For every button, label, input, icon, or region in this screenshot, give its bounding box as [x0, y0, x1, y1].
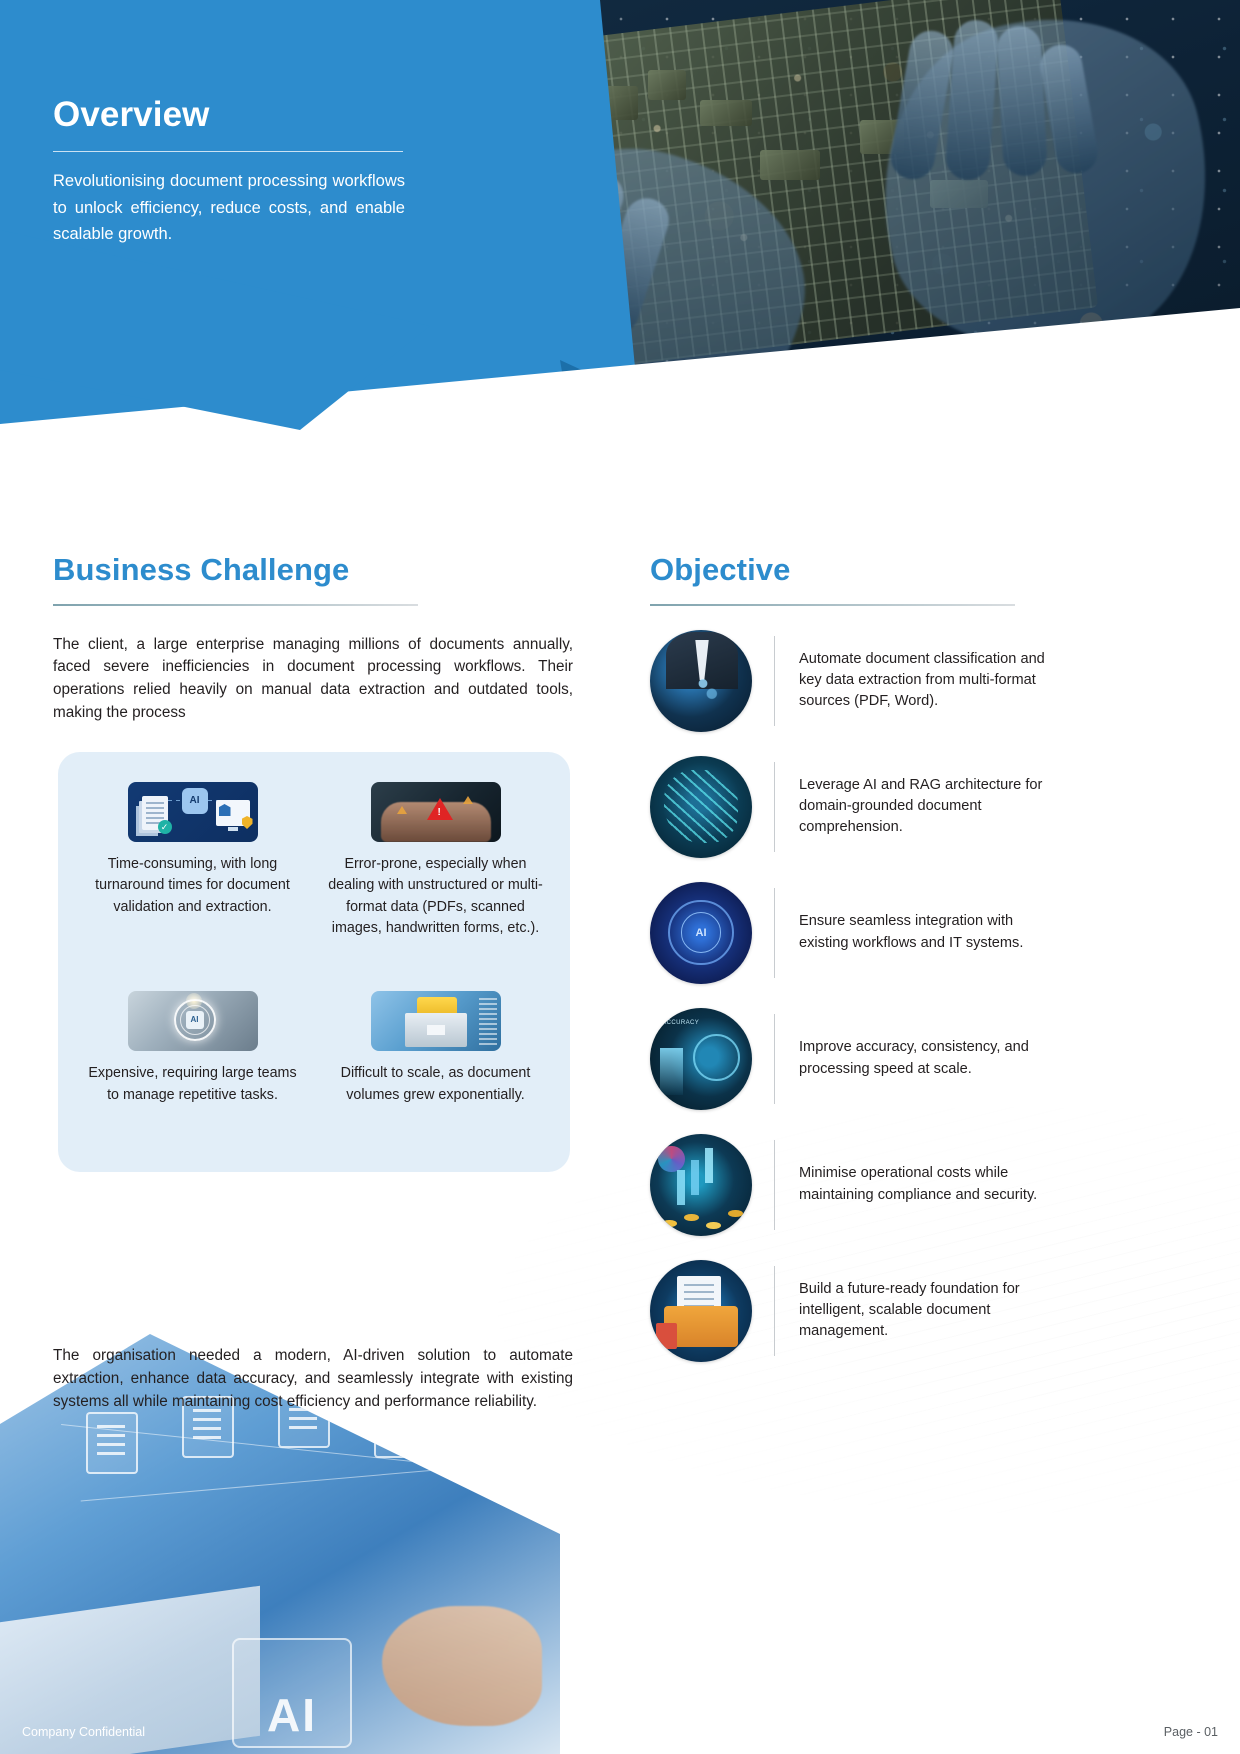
- objective-item-text: Minimise operational costs while maintai…: [799, 1163, 1045, 1205]
- ai-chip-hologram-photo: AI: [128, 991, 258, 1051]
- objective-item-text: Build a future-ready foundation for inte…: [799, 1279, 1045, 1342]
- challenge-card: AI Expensive, requiring large teams to m…: [74, 991, 311, 1150]
- challenge-card: Error-prone, especially when dealing wit…: [317, 782, 554, 983]
- business-challenge-card-box: ✓ AI Time-consuming, with long turnaroun…: [58, 752, 570, 1172]
- objective-item: AI Ensure seamless integration with exis…: [650, 882, 1045, 984]
- ai-document-validation-illustration: ✓ AI: [128, 782, 258, 842]
- objective-item-divider: [774, 1014, 775, 1104]
- objective-item-text: Automate document classification and key…: [799, 649, 1045, 712]
- objective-title: Objective: [650, 552, 1045, 588]
- objective-item-text: Ensure seamless integration with existin…: [799, 911, 1045, 953]
- objective-item-text: Improve accuracy, consistency, and proce…: [799, 1037, 1045, 1079]
- chip-block-icon: [700, 100, 752, 126]
- page-title: Overview: [53, 95, 413, 135]
- overview-block: Overview Revolutionising document proces…: [53, 95, 413, 248]
- file-drawer-digital-archive-photo: [371, 991, 501, 1051]
- business-challenge-section: Business Challenge The client, a large e…: [53, 552, 573, 725]
- glowing-neural-hand-photo: [650, 756, 752, 858]
- objective-item: ACCURACY Improve accuracy, consistency, …: [650, 1008, 1045, 1110]
- objective-item-divider: [774, 1140, 775, 1230]
- objective-item: Build a future-ready foundation for inte…: [650, 1260, 1045, 1362]
- objective-item: Automate document classification and key…: [650, 630, 1045, 732]
- challenge-card-caption: Time-consuming, with long turnaround tim…: [74, 854, 311, 918]
- challenge-card: ✓ AI Time-consuming, with long turnaroun…: [74, 782, 311, 983]
- hero-banner: [0, 0, 1240, 600]
- hands-typing-error-warning-photo: [371, 782, 501, 842]
- objective-item: Leverage AI and RAG architecture for dom…: [650, 756, 1045, 858]
- challenge-card-caption: Difficult to scale, as document volumes …: [317, 1063, 554, 1106]
- confidentiality-label: Company Confidential: [22, 1725, 145, 1739]
- accuracy-dashboard-hologram-photo: ACCURACY: [650, 1008, 752, 1110]
- page-number: Page - 01: [1164, 1725, 1218, 1739]
- overview-divider: [53, 151, 403, 152]
- challenge-card-caption: Error-prone, especially when dealing wit…: [317, 854, 554, 940]
- business-challenge-intro: The client, a large enterprise managing …: [53, 634, 573, 726]
- challenge-card: Difficult to scale, as document volumes …: [317, 991, 554, 1150]
- objective-list: Automate document classification and key…: [650, 630, 1045, 1362]
- businessman-document-interface-photo: [650, 630, 752, 732]
- objective-item-divider: [774, 1266, 775, 1356]
- objective-item-divider: [774, 888, 775, 978]
- cost-analytics-coins-chart-photo: [650, 1134, 752, 1236]
- business-challenge-outro: The organisation needed a modern, AI-dri…: [53, 1345, 573, 1414]
- overview-text: Revolutionising document processing work…: [53, 168, 405, 248]
- objective-divider: [650, 604, 1015, 606]
- business-challenge-divider: [53, 604, 418, 606]
- document-node-icon: [86, 1412, 138, 1474]
- digital-folder-documents-photo: [650, 1260, 752, 1362]
- ai-circular-network-badge-photo: AI: [650, 882, 752, 984]
- page-footer: Company Confidential Page - 01: [0, 1710, 1240, 1754]
- finger-shape: [996, 25, 1048, 177]
- objective-item: Minimise operational costs while maintai…: [650, 1134, 1045, 1236]
- objective-item-text: Leverage AI and RAG architecture for dom…: [799, 775, 1045, 838]
- challenge-card-caption: Expensive, requiring large teams to mana…: [74, 1063, 311, 1106]
- objective-section: Objective Automate document classificati…: [650, 552, 1045, 1386]
- chip-block-icon: [760, 150, 820, 180]
- business-challenge-title: Business Challenge: [53, 552, 573, 588]
- objective-item-divider: [774, 636, 775, 726]
- objective-item-divider: [774, 762, 775, 852]
- chip-block-icon: [648, 70, 686, 100]
